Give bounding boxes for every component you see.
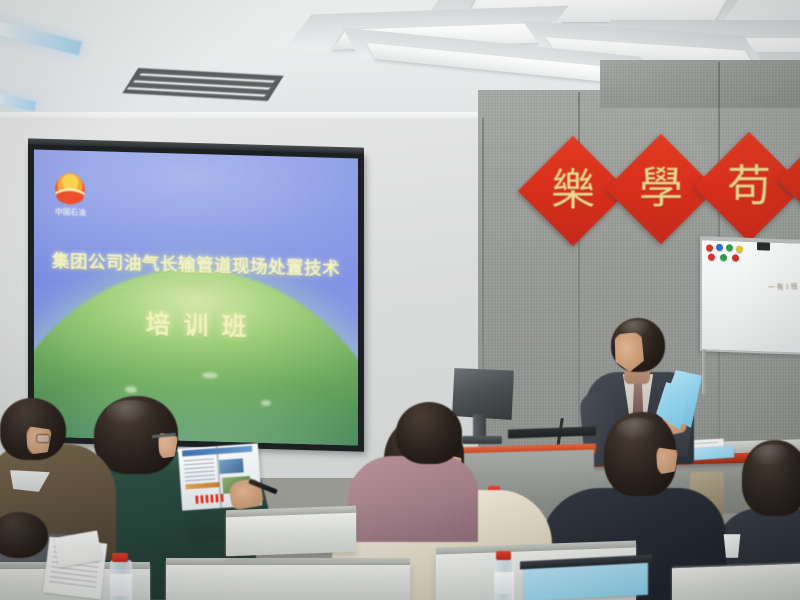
front-table-center	[166, 562, 410, 600]
front-table-far-right	[672, 564, 800, 600]
water-bottle-left[interactable]	[110, 560, 132, 600]
cnpc-logo: 中国石油	[52, 172, 88, 225]
fluorescent-fixture-secondary	[0, 91, 36, 112]
plaque-character-1: 樂	[534, 152, 612, 230]
magnet-red-1[interactable]	[706, 244, 713, 251]
conference-room-photo: 樂 學 苟 中国石油	[0, 0, 800, 600]
binder-clip-icon[interactable]	[757, 242, 770, 250]
attendee-mauve-shirt-torso	[348, 456, 478, 542]
monitor-stand-base	[462, 436, 502, 444]
magnet-blue[interactable]	[716, 244, 723, 251]
projection-screen[interactable]: 中国石油 集团公司油气长输管道现场处置技术 培训班	[28, 144, 364, 451]
magnet-yellow[interactable]	[736, 245, 743, 252]
globe-highlight-2	[202, 372, 218, 378]
projection-screen-surface: 中国石油 集团公司油气长输管道现场处置技术 培训班	[34, 149, 358, 445]
globe-highlight-3	[261, 400, 271, 406]
magnet-green-1[interactable]	[726, 244, 733, 251]
whiteboard[interactable]: 一 有 1 班	[700, 236, 800, 355]
bottle-cap-left	[112, 553, 128, 562]
bottle-label-right	[494, 572, 514, 594]
plaque-character-2: 學	[622, 150, 700, 228]
water-bottle-right[interactable]	[494, 558, 514, 600]
presenter-hair-sheen	[620, 320, 654, 338]
attendee-green-hair-sheen	[106, 400, 156, 426]
fluorescent-fixture	[0, 19, 82, 56]
brochure-photo-1	[219, 458, 244, 474]
globe-highlight-1	[125, 386, 137, 393]
plaque-character-3: 苟	[710, 148, 788, 226]
magnet-red-2[interactable]	[708, 253, 715, 260]
crt-monitor[interactable]	[452, 368, 514, 420]
slide-title: 集团公司油气长输管道现场处置技术	[34, 247, 358, 281]
magnet-green-2[interactable]	[720, 254, 727, 261]
cnpc-sun-logo-icon	[53, 172, 87, 207]
magnet-group[interactable]	[706, 242, 752, 264]
glasses-lens	[36, 434, 50, 443]
attendee-mauve-shirt-head	[396, 402, 462, 464]
cnpc-brand-text: 中国石油	[52, 206, 89, 218]
front-table-center-edge	[166, 558, 410, 565]
recessed-grille-light	[123, 68, 284, 101]
brochure-accent-orange	[185, 482, 219, 489]
whiteboard-leg	[702, 350, 706, 394]
attendee-grey-left-head	[0, 512, 48, 558]
bottle-label-left	[110, 574, 132, 596]
mid-table-green-row	[226, 510, 356, 557]
brochure-text-block-1	[184, 458, 215, 482]
whiteboard-handwriting: 一 有 1 班	[768, 283, 798, 293]
acoustic-panel-wall-upper	[600, 60, 800, 108]
attendee-center-hair-sheen	[616, 418, 660, 442]
attendee-right-hair-sheen	[752, 444, 792, 468]
bottle-cap-right	[496, 551, 511, 560]
magnet-red-3[interactable]	[732, 254, 739, 261]
